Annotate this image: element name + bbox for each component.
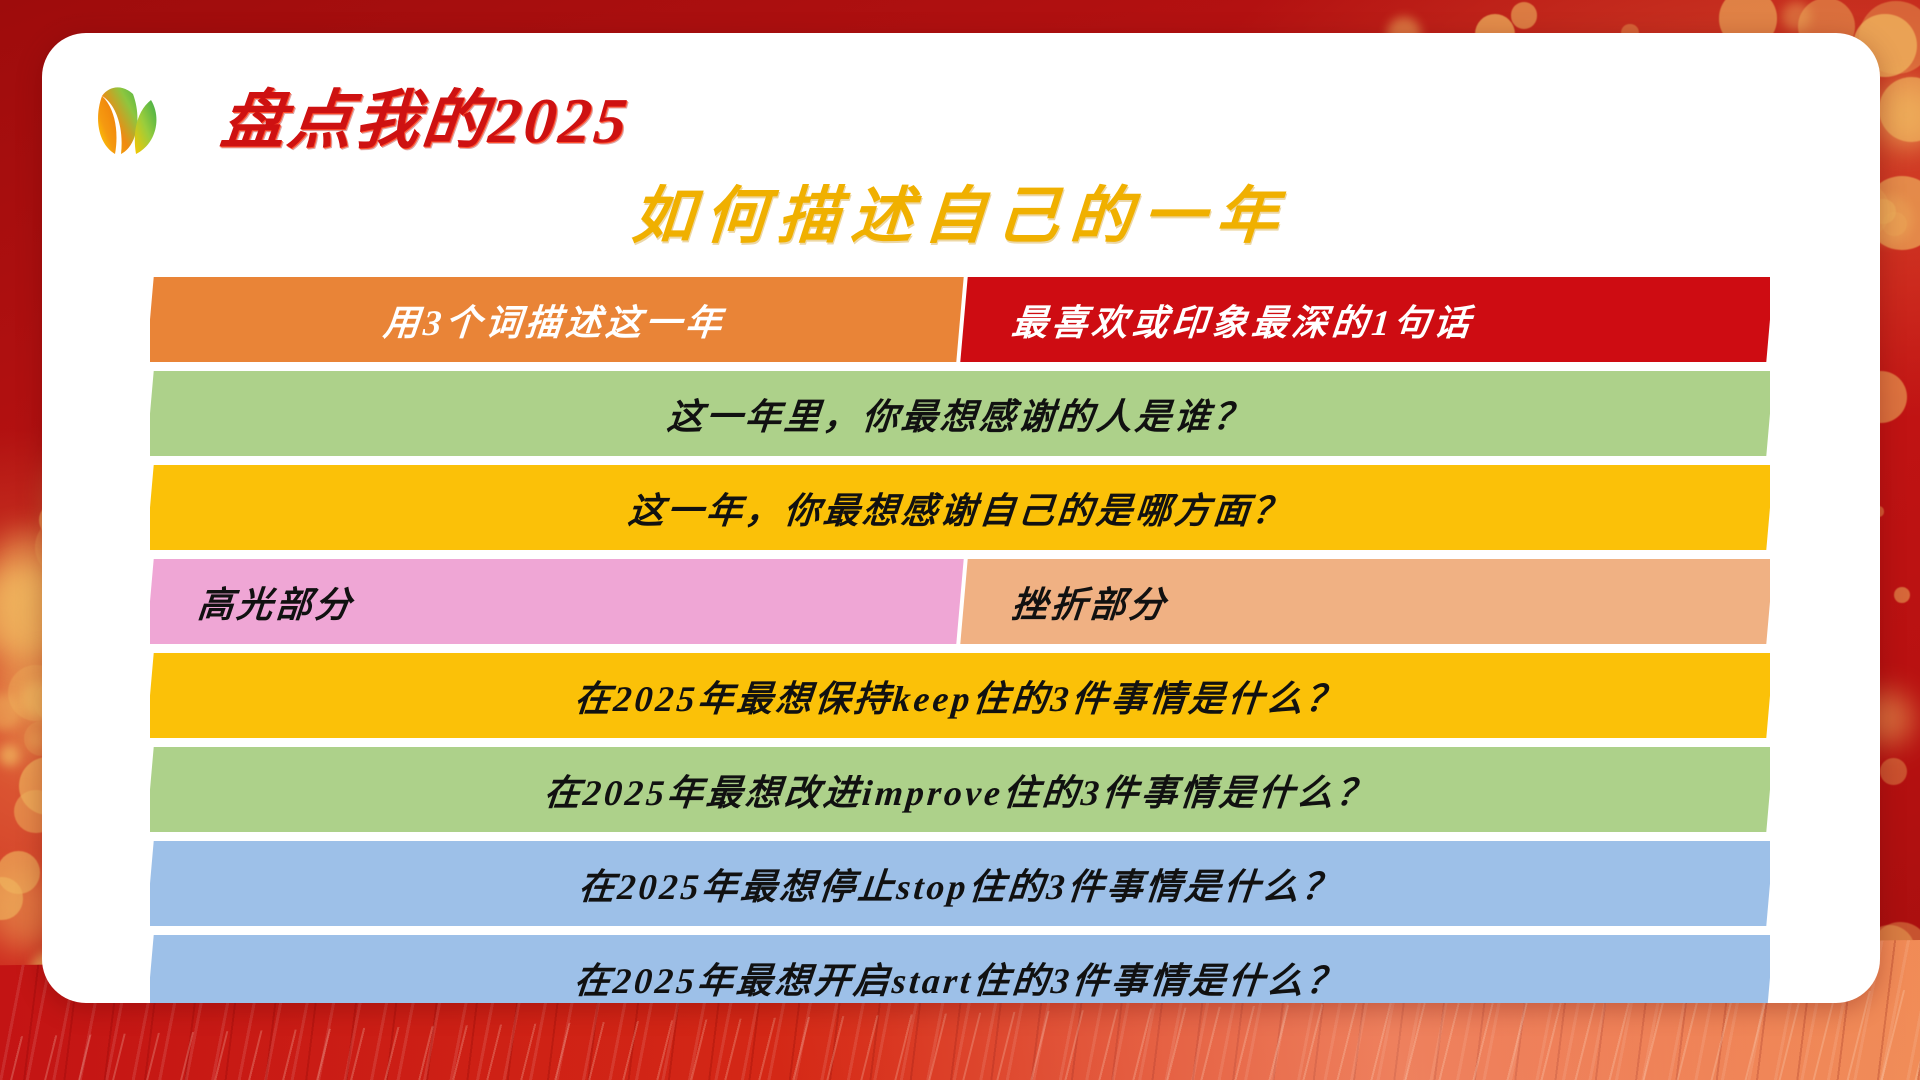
table-row: 这一年里，你最想感谢的人是谁？ [150,371,1770,456]
cell-label: 在2025年最想停止stop住的3件事情是什么？ [577,858,1344,910]
cell-label: 最喜欢或印象最深的1句话 [1009,294,1476,346]
table-row: 高光部分挫折部分 [150,559,1770,644]
bokeh-dot [0,745,20,766]
page-title: 如何描述自己的一年 [42,165,1880,255]
row-header-cell-0[interactable]: 用3个词描述这一年 [150,277,963,362]
bokeh-dot [1511,2,1538,29]
table-row: 在2025年最想保持keep住的3件事情是什么？ [150,653,1770,738]
cell-label: 在2025年最想改进improve住的3件事情是什么？ [542,764,1378,816]
cell-label: 这一年里，你最想感谢的人是谁？ [665,388,1255,440]
row-thank-person-cell-0[interactable]: 这一年里，你最想感谢的人是谁？ [150,371,1770,456]
bokeh-dot [1880,758,1907,785]
cell-label: 高光部分 [196,576,357,628]
row-stop-cell-0[interactable]: 在2025年最想停止stop住的3件事情是什么？ [150,841,1770,926]
table-row: 在2025年最想停止stop住的3件事情是什么？ [150,841,1770,926]
brand-header: 盘点我的2025 [88,69,630,161]
cell-label: 在2025年最想开启start住的3件事情是什么？ [572,952,1348,1004]
main-card: 盘点我的2025 如何描述自己的一年 用3个词描述这一年最喜欢或印象最深的1句话… [42,33,1880,1003]
row-thank-self-cell-0[interactable]: 这一年，你最想感谢自己的是哪方面？ [150,465,1770,550]
brand-title: 盘点我的2025 [217,69,635,161]
question-table: 用3个词描述这一年最喜欢或印象最深的1句话这一年里，你最想感谢的人是谁？这一年，… [150,277,1770,1003]
row-header-cell-1[interactable]: 最喜欢或印象最深的1句话 [960,277,1770,362]
row-improve-cell-0[interactable]: 在2025年最想改进improve住的3件事情是什么？ [150,747,1770,832]
table-row: 在2025年最想开启start住的3件事情是什么？ [150,935,1770,1003]
tulip-leaf-logo-icon [88,74,166,156]
table-row: 在2025年最想改进improve住的3件事情是什么？ [150,747,1770,832]
table-row: 这一年，你最想感谢自己的是哪方面？ [150,465,1770,550]
row-highlight-setback-cell-0[interactable]: 高光部分 [150,559,963,644]
cell-label: 挫折部分 [1009,576,1170,628]
cell-label: 在2025年最想保持keep住的3件事情是什么？ [573,670,1348,722]
cell-label: 用3个词描述这一年 [381,294,728,346]
table-row: 用3个词描述这一年最喜欢或印象最深的1句话 [150,277,1770,362]
cell-label: 这一年，你最想感谢自己的是哪方面？ [626,482,1294,534]
row-start-cell-0[interactable]: 在2025年最想开启start住的3件事情是什么？ [150,935,1770,1003]
row-keep-cell-0[interactable]: 在2025年最想保持keep住的3件事情是什么？ [150,653,1770,738]
row-highlight-setback-cell-1[interactable]: 挫折部分 [960,559,1770,644]
